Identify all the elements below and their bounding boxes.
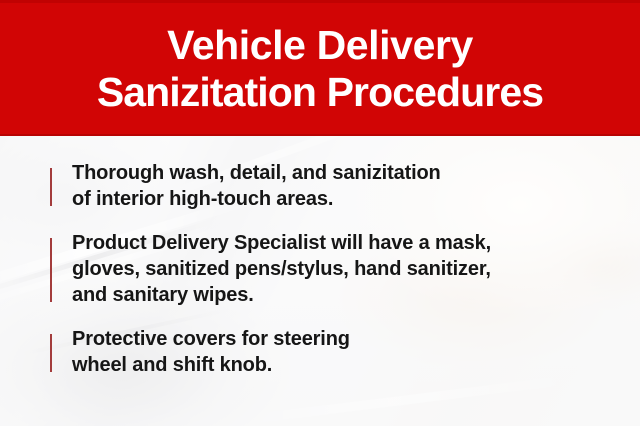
procedure-list: Thorough wash, detail, and sanizitation … xyxy=(50,160,610,378)
sanitization-procedures-banner: Vehicle Delivery Sanizitation Procedures… xyxy=(0,0,640,426)
list-item: Protective covers for steering wheel and… xyxy=(50,326,610,378)
title-banner: Vehicle Delivery Sanizitation Procedures xyxy=(0,0,640,136)
list-item-text: Thorough wash, detail, and sanizitation … xyxy=(72,160,610,212)
title-line-2: Sanizitation Procedures xyxy=(97,69,543,116)
bullet-rule-marker xyxy=(50,334,52,372)
list-item: Product Delivery Specialist will have a … xyxy=(50,230,610,308)
list-item-text: Protective covers for steering wheel and… xyxy=(72,326,610,378)
title-line-1: Vehicle Delivery xyxy=(167,22,473,69)
list-item-text: Product Delivery Specialist will have a … xyxy=(72,230,610,308)
bullet-rule-marker xyxy=(50,238,52,302)
bullet-rule-marker xyxy=(50,168,52,206)
list-item: Thorough wash, detail, and sanizitation … xyxy=(50,160,610,212)
